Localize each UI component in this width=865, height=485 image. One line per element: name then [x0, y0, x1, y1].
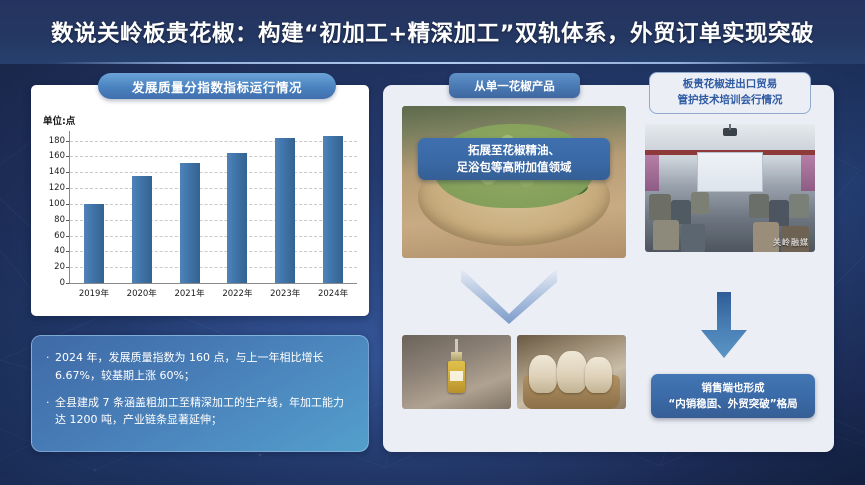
process-panel: 从单一花椒产品 拓展至花椒精油、 足浴包等高附加值领域 板贵花椒进出口贸易	[383, 85, 834, 452]
sachet-shape	[585, 357, 612, 393]
stage-label-high-value: 拓展至花椒精油、 足浴包等高附加值领域	[418, 138, 610, 180]
stage-label-text: 从单一花椒产品	[474, 78, 555, 94]
chart-title: 发展质量分指数指标运行情况	[132, 77, 302, 96]
y-axis-tick: 160	[49, 151, 65, 161]
key-finding-item: ·全县建成 7 条涵盖粗加工至精深加工的生产线，年加工能力达 1200 吨，产业…	[46, 394, 352, 430]
bottle-neck-shape	[455, 339, 458, 353]
stage-label-single-product: 从单一花椒产品	[449, 73, 580, 98]
x-axis-tick: 2021年	[167, 287, 213, 299]
curtain-shape	[801, 155, 815, 191]
audience-shape	[649, 194, 671, 220]
x-axis-labels: 2019年2020年2021年2022年2023年2024年	[70, 287, 357, 299]
chart-plot-area: 020406080100120140160180 2019年2020年2021年…	[43, 131, 357, 303]
result-label: 销售端也形成 “内销稳固、外贸突破”格局	[651, 374, 815, 418]
result-line1: 销售端也形成	[702, 380, 765, 396]
x-axis-tick: 2020年	[119, 287, 165, 299]
x-axis-line	[69, 283, 357, 284]
photo-watermark: 关岭融媒	[773, 237, 809, 248]
bullet-icon: ·	[46, 394, 55, 430]
y-axis-tick: 20	[54, 262, 65, 272]
arrow-down-icon	[695, 292, 753, 358]
chart-bars	[70, 131, 357, 283]
sachet-shape	[557, 351, 587, 393]
photo-raw-peppercorn	[402, 106, 626, 258]
training-label-line1: 板贵花椒进出口贸易	[683, 77, 778, 93]
audience-shape	[653, 220, 679, 250]
chart-title-banner: 发展质量分指数指标运行情况	[98, 73, 336, 99]
y-axis-tick: 0	[60, 278, 65, 288]
bar-2023年	[275, 138, 295, 283]
bar-2024年	[323, 136, 343, 283]
curtain-shape	[645, 155, 659, 191]
x-axis-tick: 2024年	[310, 287, 356, 299]
result-box: 销售端也形成 “内销稳固、外贸突破”格局	[645, 366, 821, 426]
y-axis-tick: 40	[54, 246, 65, 256]
y-axis: 020406080100120140160180	[43, 131, 69, 283]
y-axis-tick: 120	[49, 183, 65, 193]
bar-2022年	[227, 153, 247, 283]
key-finding-item: ·2024 年，发展质量指数为 160 点，与上一年相比增长 6.67%，较基期…	[46, 349, 352, 385]
bar-2020年	[132, 176, 152, 283]
y-axis-tick: 60	[54, 231, 65, 241]
audience-shape	[691, 192, 709, 214]
key-finding-text: 全县建成 7 条涵盖粗加工至精深加工的生产线，年加工能力达 1200 吨，产业链…	[55, 394, 352, 430]
stage-label-line1: 拓展至花椒精油、	[468, 142, 560, 159]
audience-shape	[789, 194, 809, 218]
bullet-icon: ·	[46, 349, 55, 385]
key-findings-box: ·2024 年，发展质量指数为 160 点，与上一年相比增长 6.67%，较基期…	[31, 335, 369, 452]
photo-pepper-oil	[402, 335, 511, 409]
chart-unit-label: 单位:点	[43, 113, 75, 127]
projector-screen-shape	[697, 152, 763, 192]
x-axis-tick: 2019年	[71, 287, 117, 299]
projector-mount-shape	[729, 124, 731, 130]
audience-shape	[749, 194, 769, 218]
x-axis-tick: 2023年	[262, 287, 308, 299]
y-axis-tick: 180	[49, 136, 65, 146]
y-axis-tick: 100	[49, 199, 65, 209]
photo-training-session: 关岭融媒	[645, 124, 815, 252]
page-header: 数说关岭板贵花椒：构建“初加工+精深加工”双轨体系，外贸订单实现突破	[0, 0, 865, 64]
audience-shape	[681, 224, 705, 252]
page-title: 数说关岭板贵花椒：构建“初加工+精深加工”双轨体系，外贸订单实现突破	[51, 16, 814, 48]
stage-label-line2: 足浴包等高附加值领域	[457, 159, 572, 176]
result-line2: “内销稳固、外贸突破”格局	[668, 396, 797, 412]
training-label-line2: 管护技术培训会行情况	[678, 93, 783, 109]
x-axis-tick: 2022年	[214, 287, 260, 299]
bottle-label-shape	[450, 371, 463, 381]
y-axis-tick: 140	[49, 167, 65, 177]
bar-2019年	[84, 204, 104, 283]
photo-foot-bath-sachet	[517, 335, 626, 409]
chart-card: 发展质量分指数指标运行情况 单位:点 020406080100120140160…	[31, 85, 369, 316]
sachet-shape	[529, 355, 557, 393]
training-photo-label: 板贵花椒进出口贸易 管护技术培训会行情况	[649, 72, 811, 114]
y-axis-tick: 80	[54, 215, 65, 225]
bar-2021年	[180, 163, 200, 283]
key-finding-text: 2024 年，发展质量指数为 160 点，与上一年相比增长 6.67%，较基期上…	[55, 349, 352, 385]
chevron-down-icon	[461, 268, 557, 324]
title-divider	[52, 62, 814, 64]
